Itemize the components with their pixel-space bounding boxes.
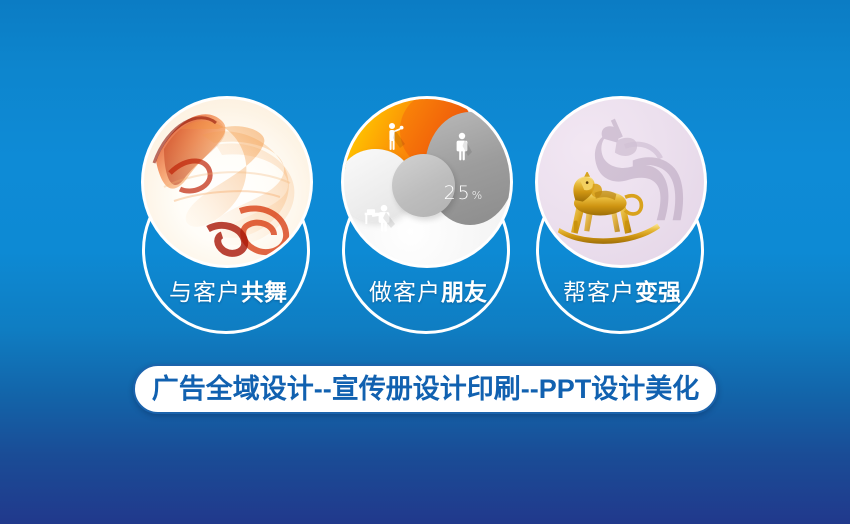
- infographic-blobs-art: 25%: [344, 99, 510, 265]
- card-label-3-lead: 帮客户: [563, 279, 635, 305]
- orange-smoke-swirl-art: [144, 99, 310, 265]
- card-label-3: 帮客户变强: [522, 278, 722, 306]
- person-standing-icon: [454, 132, 472, 162]
- person-presenting-icon: [384, 122, 406, 152]
- feature-card-dance-with-customer[interactable]: 与客户共舞: [128, 88, 328, 338]
- tagline-banner-text: 广告全域设计--宣传册设计印刷--PPT设计美化: [152, 374, 699, 404]
- feature-card-make-customer-stronger[interactable]: 帮客户变强: [522, 88, 722, 338]
- feature-circles-row: 与客户共舞: [0, 0, 850, 340]
- card-label-2-emph: 朋友: [441, 279, 487, 305]
- rocking-horse-art: [538, 99, 704, 265]
- stat-value: 25: [444, 182, 472, 204]
- person-at-desk-icon: [364, 204, 398, 232]
- smoke-swirl-icon: [144, 99, 310, 265]
- rocking-horse-icon: [555, 172, 665, 252]
- stat-unit: %: [472, 189, 482, 202]
- image-disc-2: 25%: [344, 99, 510, 265]
- image-disc-1: [144, 99, 310, 265]
- card-label-1-lead: 与客户: [169, 279, 241, 305]
- tagline-banner[interactable]: 广告全域设计--宣传册设计印刷--PPT设计美化: [133, 364, 718, 414]
- slide-canvas: 与客户共舞: [0, 0, 850, 524]
- image-disc-3: [538, 99, 704, 265]
- card-label-2-lead: 做客户: [369, 279, 441, 305]
- card-label-1: 与客户共舞: [128, 278, 328, 306]
- feature-card-be-customer-friend[interactable]: 25%: [328, 88, 528, 338]
- stat-25-percent: 25%: [444, 182, 483, 204]
- card-label-2: 做客户朋友: [328, 278, 528, 306]
- card-label-3-emph: 变强: [635, 279, 681, 305]
- card-label-1-emph: 共舞: [241, 279, 287, 305]
